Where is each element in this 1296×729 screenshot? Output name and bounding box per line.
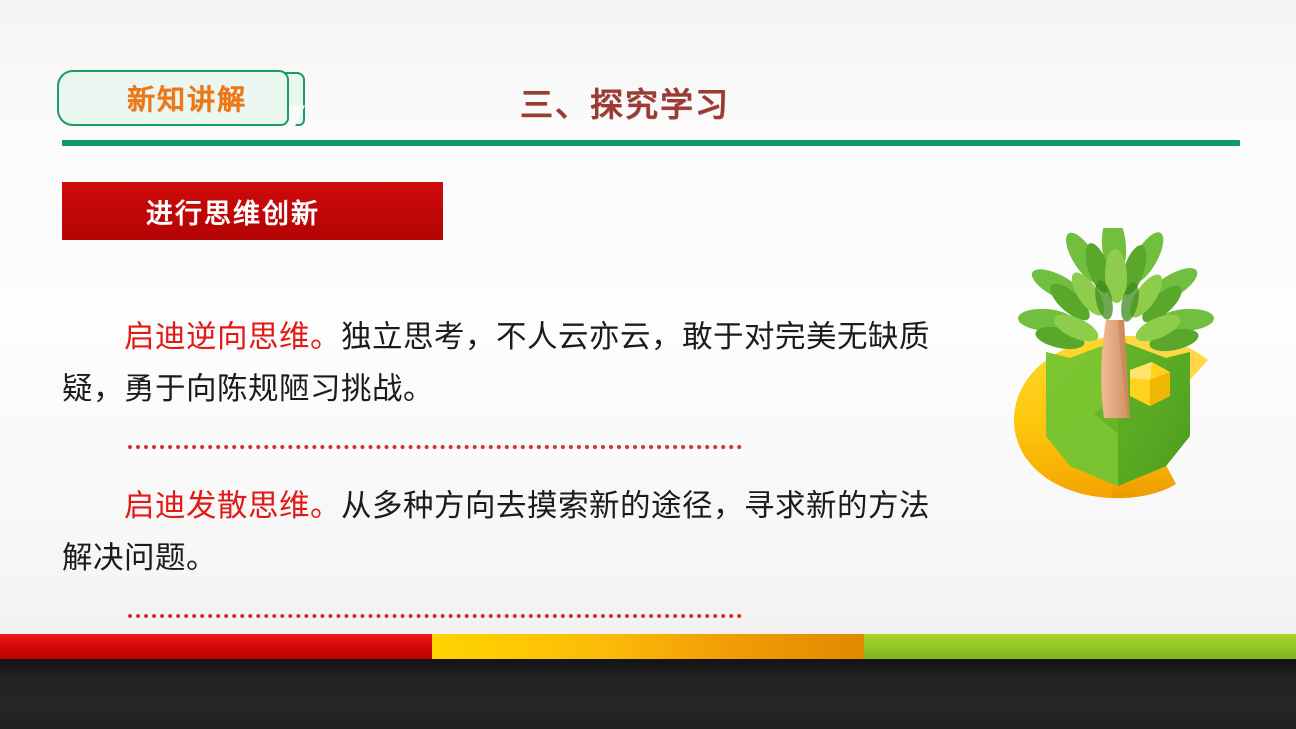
slide-canvas: 新知讲解 三、探究学习 进行思维创新 启迪逆向思维。独立思考，不人云亦云，敢于对… <box>0 0 1296 729</box>
footer-dark-strip <box>0 659 1296 729</box>
footer-segment-orange <box>432 634 864 659</box>
section-tab[interactable]: 新知讲解 <box>57 70 305 132</box>
header-divider-rule <box>62 140 1240 146</box>
topic-banner: 进行思维创新 <box>62 182 443 240</box>
section-tab-label: 新知讲解 <box>57 70 289 126</box>
paragraph-divider-2 <box>128 614 742 618</box>
paragraph-1: 启迪逆向思维。独立思考，不人云亦云，敢于对完美无缺质疑，勇于向陈规陋习挑战。 <box>62 311 942 415</box>
paragraph-2: 启迪发散思维。从多种方向去摸索新的途径，寻求新的方法解决问题。 <box>62 480 942 584</box>
paragraph-1-lead: 启迪逆向思维。 <box>124 320 341 354</box>
page-title: 三、探究学习 <box>520 78 730 126</box>
footer-segment-green <box>864 634 1296 659</box>
footer-segment-red <box>0 634 432 659</box>
topic-banner-label: 进行思维创新 <box>62 192 320 231</box>
palm-tree-star-ring-icon <box>1000 228 1235 513</box>
paragraph-2-lead: 启迪发散思维。 <box>124 489 341 523</box>
paragraph-divider-1 <box>128 445 742 449</box>
tree-trunk <box>1101 320 1130 418</box>
footer-color-bar <box>0 634 1296 659</box>
